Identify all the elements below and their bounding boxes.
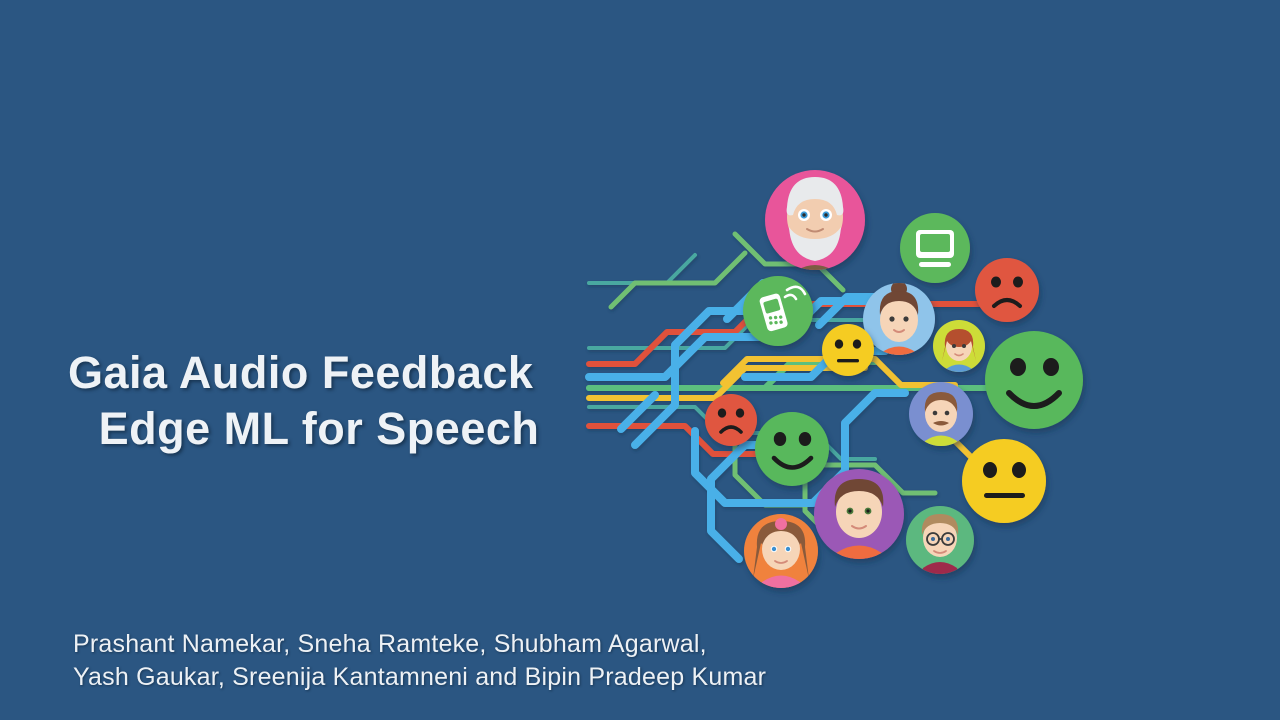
neutral-face-yellow-small [822,324,874,376]
title-line-1: Gaia Audio Feedback [68,345,588,401]
title-line-2: Edge ML for Speech [68,401,588,457]
trace-green-3 [611,253,745,307]
boy-glasses-avatar [906,506,974,580]
presentation-title-slide: Gaia Audio Feedback Edge ML for Speech P… [0,0,1280,720]
neutral-face-yellow-large [962,439,1046,523]
girl-bow-avatar [744,514,818,596]
authors-list: Prashant Namekar, Sneha Ramteke, Shubham… [73,628,973,694]
authors-line-2: Yash Gaukar, Sreenija Kantamneni and Bip… [73,661,973,694]
computer-monitor-icon-node [900,213,970,283]
page-title: Gaia Audio Feedback Edge ML for Speech [68,345,588,457]
boy-brownhair-avatar [814,469,904,569]
happy-face-green-large [985,331,1083,429]
mobile-phone-signal-icon-node [743,276,813,346]
trace-teal-3 [589,255,695,283]
authors-line-1: Prashant Namekar, Sneha Ramteke, Shubham… [73,628,973,661]
man-mustache-avatar [909,382,973,453]
sad-face-red-top [975,258,1039,322]
brain-network-illustration [575,145,1105,615]
happy-face-green-mid [755,412,829,486]
girl-redhair-avatar [933,320,985,379]
sad-face-red-small [705,394,757,446]
